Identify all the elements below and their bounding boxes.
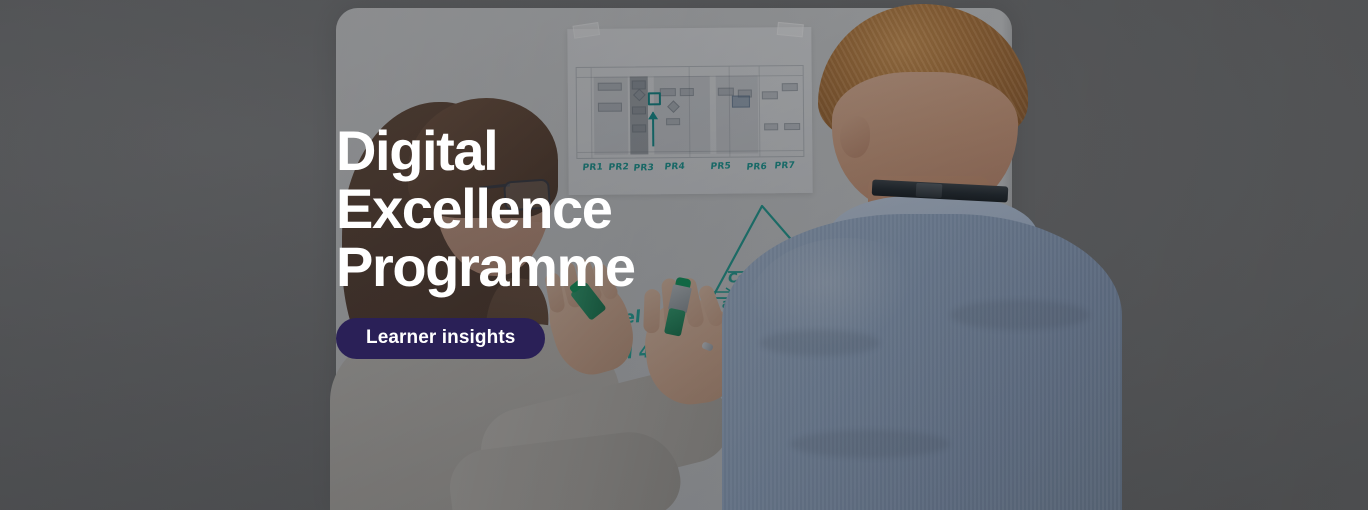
headline-line-1: Digital [336, 122, 1096, 180]
hero-content: Digital Excellence Programme Learner ins… [336, 122, 1096, 359]
hero-banner: PR1 PR2 PR3 PR4 PR5 PR6 PR7 [0, 0, 1368, 510]
headline-line-2: Excellence [336, 180, 1096, 238]
headline-line-3: Programme [336, 238, 1096, 296]
page-title: Digital Excellence Programme [336, 122, 1096, 296]
learner-insights-badge[interactable]: Learner insights [336, 318, 545, 359]
